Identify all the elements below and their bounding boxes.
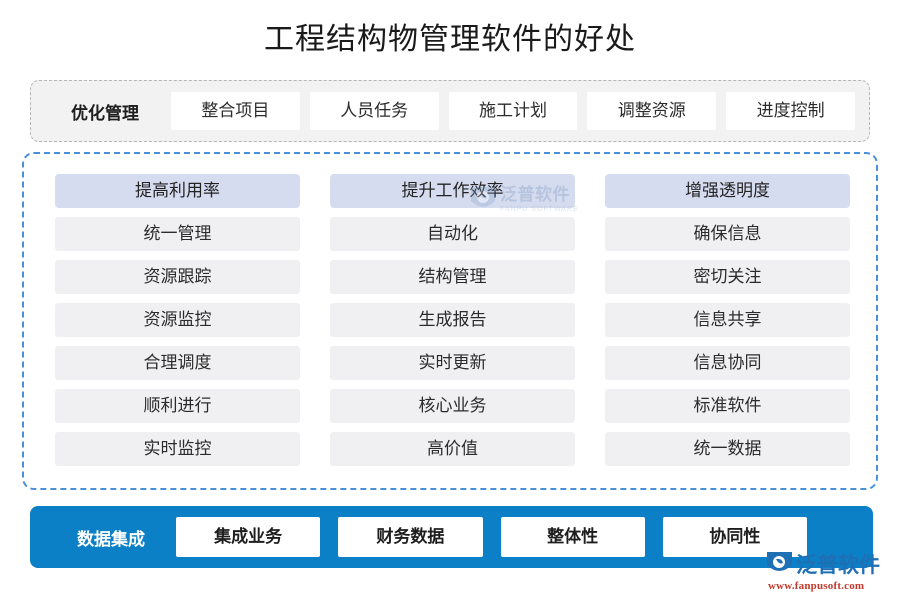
column-cell[interactable]: 资源跟踪 — [55, 260, 300, 294]
column-cell[interactable]: 生成报告 — [330, 303, 575, 337]
column-cell[interactable]: 密切关注 — [605, 260, 850, 294]
page-title: 工程结构物管理软件的好处 — [0, 14, 900, 58]
column-header: 提升工作效率 — [330, 174, 575, 208]
column-cell[interactable]: 自动化 — [330, 217, 575, 251]
optimization-chip[interactable]: 进度控制 — [726, 92, 855, 130]
optimization-panel-label: 优化管理 — [45, 99, 165, 124]
infographic-page: 工程结构物管理软件的好处 优化管理 整合项目 人员任务 施工计划 调整资源 进度… — [0, 0, 900, 600]
column-cell[interactable]: 资源监控 — [55, 303, 300, 337]
optimization-chip[interactable]: 整合项目 — [171, 92, 300, 130]
column-cell[interactable]: 统一管理 — [55, 217, 300, 251]
column-cell[interactable]: 实时更新 — [330, 346, 575, 380]
column-cell[interactable]: 标准软件 — [605, 389, 850, 423]
data-integration-label: 数据集成 — [46, 525, 176, 550]
column-cell[interactable]: 核心业务 — [330, 389, 575, 423]
data-integration-bar: 数据集成 集成业务 财务数据 整体性 协同性 — [30, 506, 873, 568]
column-cell[interactable]: 合理调度 — [55, 346, 300, 380]
optimization-chip[interactable]: 人员任务 — [310, 92, 439, 130]
column-cell[interactable]: 高价值 — [330, 432, 575, 466]
benefits-column-transparency: 增强透明度 确保信息 密切关注 信息共享 信息协同 标准软件 统一数据 — [605, 174, 850, 466]
data-integration-chip[interactable]: 协同性 — [663, 517, 807, 557]
benefits-columns: 提高利用率 统一管理 资源跟踪 资源监控 合理调度 顺利进行 实时监控 提升工作… — [55, 174, 850, 466]
corner-watermark-url: www.fanpusoft.com — [768, 580, 894, 592]
optimization-chip[interactable]: 施工计划 — [449, 92, 578, 130]
data-integration-chip[interactable]: 集成业务 — [176, 517, 320, 557]
optimization-chip[interactable]: 调整资源 — [587, 92, 716, 130]
benefits-panel: 提高利用率 统一管理 资源跟踪 资源监控 合理调度 顺利进行 实时监控 提升工作… — [22, 152, 878, 490]
column-cell[interactable]: 信息协同 — [605, 346, 850, 380]
column-header: 提高利用率 — [55, 174, 300, 208]
benefits-column-utilization: 提高利用率 统一管理 资源跟踪 资源监控 合理调度 顺利进行 实时监控 — [55, 174, 300, 466]
column-header: 增强透明度 — [605, 174, 850, 208]
column-cell[interactable]: 信息共享 — [605, 303, 850, 337]
column-cell[interactable]: 顺利进行 — [55, 389, 300, 423]
data-integration-chip[interactable]: 财务数据 — [338, 517, 482, 557]
benefits-column-efficiency: 提升工作效率 自动化 结构管理 生成报告 实时更新 核心业务 高价值 — [330, 174, 575, 466]
data-integration-chip-group: 集成业务 财务数据 整体性 协同性 — [176, 517, 857, 557]
column-cell[interactable]: 结构管理 — [330, 260, 575, 294]
optimization-panel: 优化管理 整合项目 人员任务 施工计划 调整资源 进度控制 — [30, 80, 870, 142]
column-cell[interactable]: 统一数据 — [605, 432, 850, 466]
column-cell[interactable]: 实时监控 — [55, 432, 300, 466]
data-integration-chip[interactable]: 整体性 — [501, 517, 645, 557]
optimization-chip-group: 整合项目 人员任务 施工计划 调整资源 进度控制 — [165, 92, 855, 130]
column-cell[interactable]: 确保信息 — [605, 217, 850, 251]
